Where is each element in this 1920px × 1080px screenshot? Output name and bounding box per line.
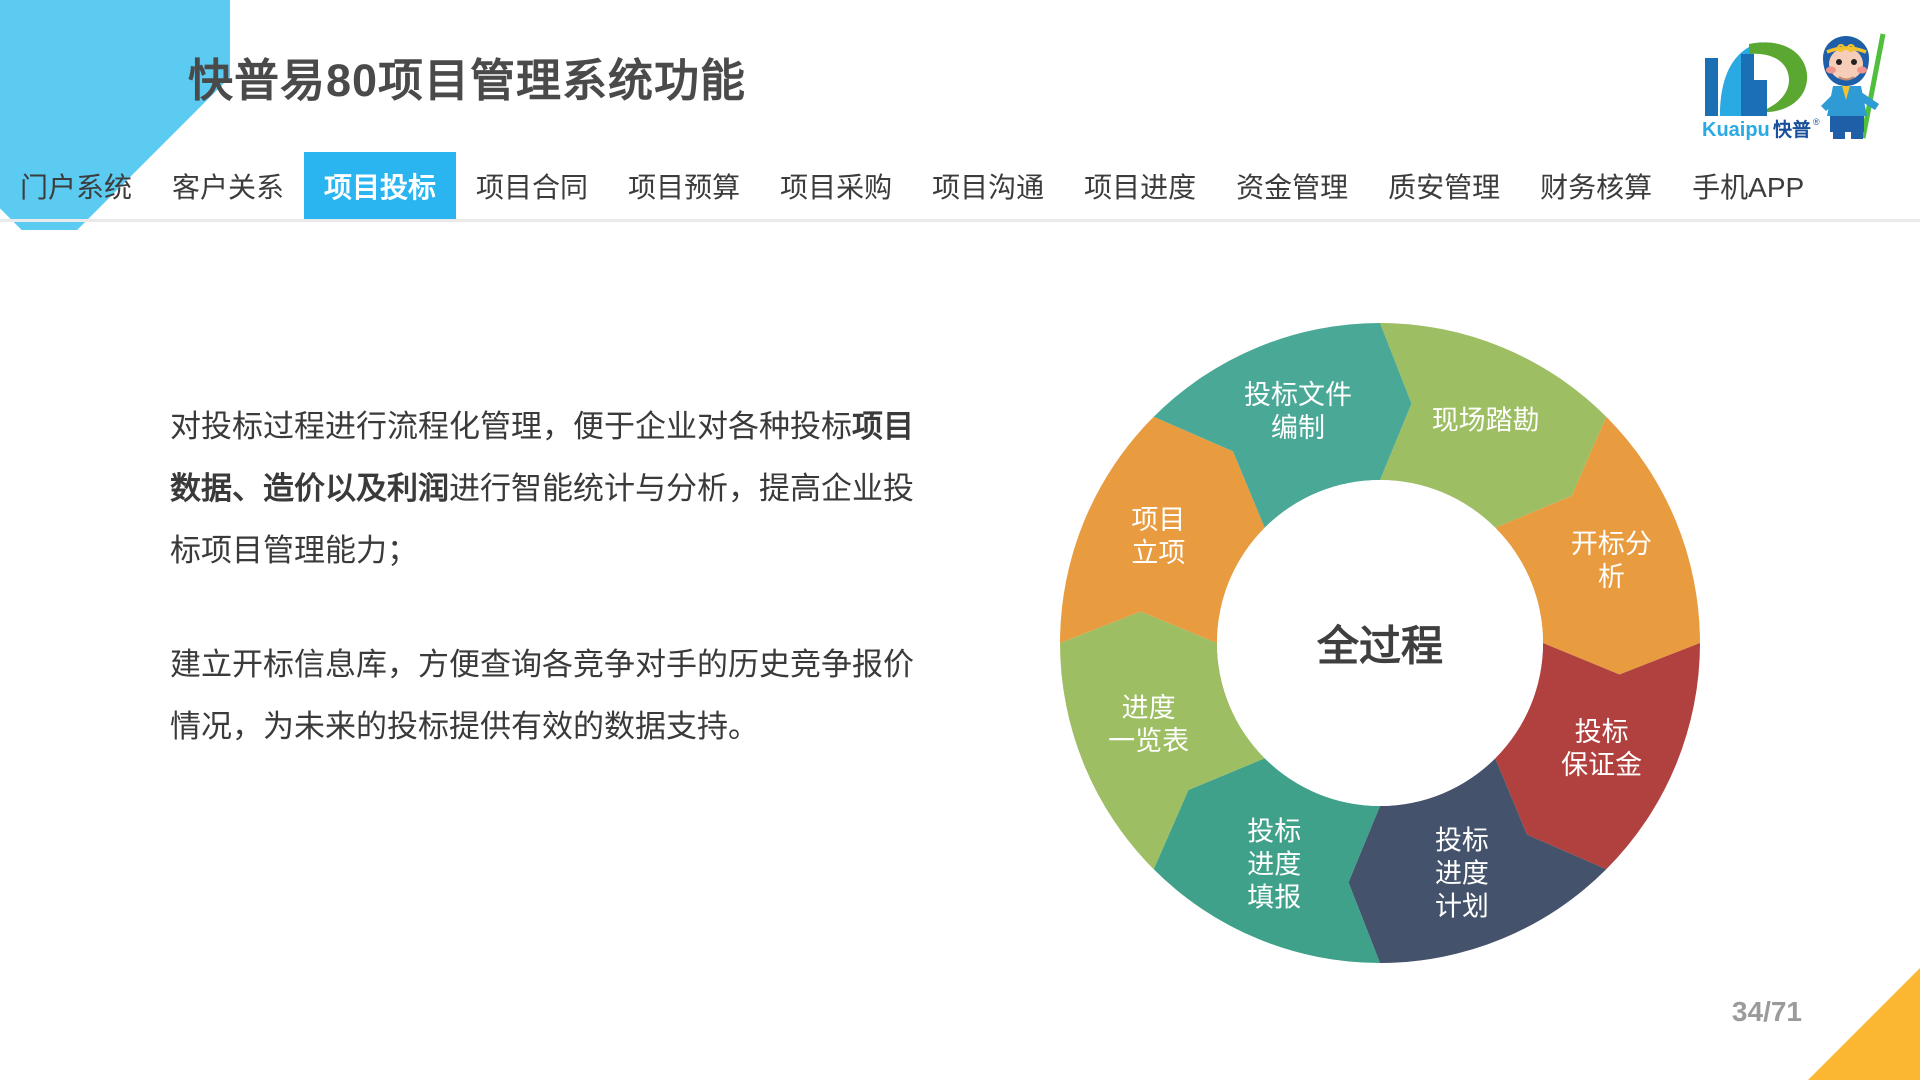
description-text: 对投标过程进行流程化管理，便于企业对各种投标项目数据、造价以及利润进行智能统计与… xyxy=(170,396,930,758)
chart-center-label: 全过程 xyxy=(1317,613,1443,674)
nav-item-5[interactable]: 项目采购 xyxy=(760,152,912,220)
nav-item-3[interactable]: 项目合同 xyxy=(456,152,608,220)
main-navigation[interactable]: 门户系统客户关系项目投标项目合同项目预算项目采购项目沟通项目进度资金管理质安管理… xyxy=(0,152,1920,220)
nav-item-4[interactable]: 项目预算 xyxy=(608,152,760,220)
paragraph-1: 对投标过程进行流程化管理，便于企业对各种投标项目数据、造价以及利润进行智能统计与… xyxy=(170,396,930,582)
nav-item-6[interactable]: 项目沟通 xyxy=(912,152,1064,220)
nav-item-1[interactable]: 客户关系 xyxy=(152,152,304,220)
nav-item-10[interactable]: 财务核算 xyxy=(1520,152,1672,220)
nav-item-8[interactable]: 资金管理 xyxy=(1216,152,1368,220)
paragraph-1-part-1: 对投标过程进行流程化管理，便于企业对各种投标 xyxy=(170,409,852,444)
brand-logo: Kuaipu 快普 ® xyxy=(1687,20,1902,142)
nav-item-7[interactable]: 项目进度 xyxy=(1064,152,1216,220)
page-number: 34/71 xyxy=(1732,996,1802,1028)
svg-text:快普: 快普 xyxy=(1773,118,1811,141)
nav-item-9[interactable]: 质安管理 xyxy=(1368,152,1520,220)
logo-svg: Kuaipu 快普 ® xyxy=(1687,20,1902,142)
nav-item-0[interactable]: 门户系统 xyxy=(0,152,152,220)
svg-text:Kuaipu: Kuaipu xyxy=(1702,119,1770,141)
nav-item-2[interactable]: 项目投标 xyxy=(304,152,456,220)
page-title: 快普易80项目管理系统功能 xyxy=(188,44,746,109)
nav-divider xyxy=(0,219,1920,222)
three-vertical-bars-icon xyxy=(128,54,151,96)
paragraph-2: 建立开标信息库，方便查询各竞争对手的历史竞争报价情况，为未来的投标提供有效的数据… xyxy=(170,634,930,758)
svg-text:®: ® xyxy=(1813,117,1820,127)
process-cycle-chart: 全过程 现场踏勘开标分析投标 保证金投标 进度 计划投标 进度 填报进度 一览表… xyxy=(1060,298,1700,988)
nav-item-11[interactable]: 手机APP xyxy=(1672,152,1824,220)
page-header: 快普易80项目管理系统功能 Kuaipu 快普 ® xyxy=(0,0,1920,152)
corner-triangle-bottom-right xyxy=(1808,968,1920,1080)
